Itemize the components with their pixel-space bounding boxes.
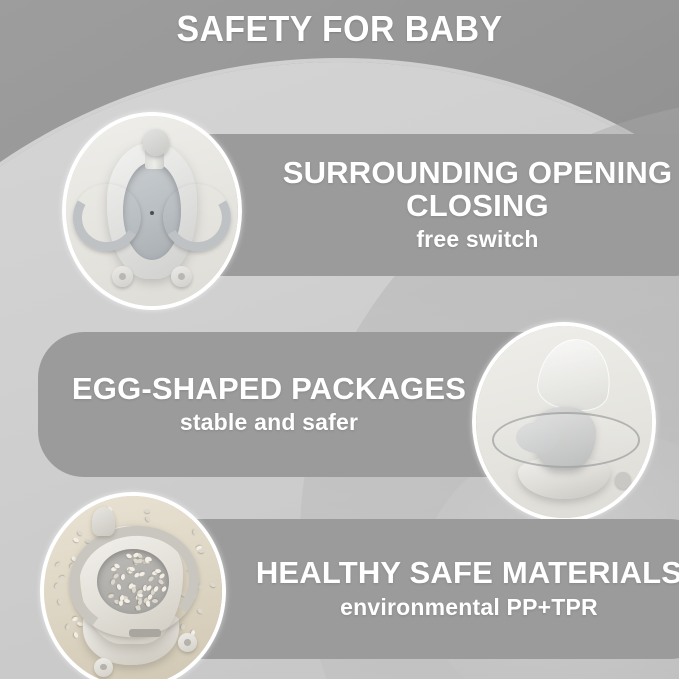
product-foot-left xyxy=(112,266,133,287)
feature-title-2: EGG-SHAPED PACKAGES xyxy=(72,373,466,405)
product-image-with-resin-pellets xyxy=(44,496,222,679)
feature-title-1: SURROUNDING OPENING CLOSING xyxy=(263,157,679,221)
product-transparent-lid xyxy=(535,335,617,415)
feature-photo-3 xyxy=(40,492,226,679)
product-foot-right xyxy=(171,266,192,287)
page-title: SAFETY FOR BABY xyxy=(20,8,658,50)
feature-row-egg-shaped-packages: EGG-SHAPED PACKAGES stable and safer xyxy=(0,312,679,497)
resin-pellets-in-bowl xyxy=(44,496,222,679)
feature-photo-1 xyxy=(62,112,242,310)
feature-subtitle-2: stable and safer xyxy=(180,409,358,436)
product-clear-disc xyxy=(492,412,640,468)
feature-subtitle-1: free switch xyxy=(416,226,538,253)
feature-row-healthy-safe-materials: HEALTHY SAFE MATERIALS environmental PP+… xyxy=(0,492,679,678)
feature-title-3: HEALTHY SAFE MATERIALS xyxy=(256,557,679,589)
product-image-egg-package xyxy=(476,326,652,518)
feature-pill-1: SURROUNDING OPENING CLOSING free switch xyxy=(170,134,679,276)
feature-pill-3: HEALTHY SAFE MATERIALS environmental PP+… xyxy=(150,519,679,659)
product-wheel xyxy=(615,472,631,489)
feature-row-surrounding-opening-closing: SURROUNDING OPENING CLOSING free switch xyxy=(0,112,679,302)
product-foot-front xyxy=(94,658,114,677)
infographic-canvas: SAFETY FOR BABY SURROUNDING OPENING CLOS… xyxy=(0,0,679,679)
product-knob-shape xyxy=(143,129,169,156)
product-foot-side xyxy=(178,633,198,652)
product-image-potty-top-view xyxy=(66,116,238,306)
feature-subtitle-3: environmental PP+TPR xyxy=(340,594,598,621)
product-vent-slot xyxy=(129,629,161,637)
product-spout-shape xyxy=(92,507,115,536)
